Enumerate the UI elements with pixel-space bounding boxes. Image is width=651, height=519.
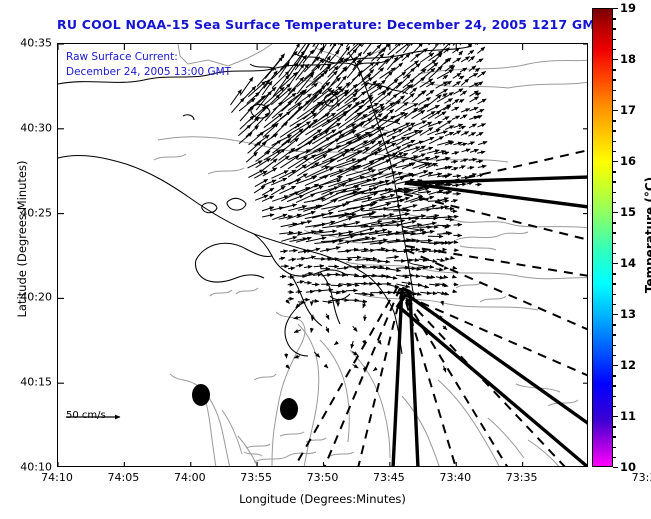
station-marker-2 — [280, 398, 298, 420]
figure-title: RU COOL NOAA-15 Sea Surface Temperature:… — [57, 17, 588, 32]
colorbar-label-15: 15 — [620, 205, 636, 219]
colorbar-minor-tick — [613, 151, 616, 152]
colorbar-minor-tick — [613, 273, 616, 274]
colorbar-label-14: 14 — [620, 256, 636, 270]
x-tick-3: 73:55 — [240, 471, 272, 484]
colorbar-minor-tick — [613, 130, 616, 131]
colorbar-minor-tick — [613, 100, 616, 101]
colorbar-minor-tick — [613, 426, 616, 427]
colorbar-minor-tick — [613, 345, 616, 346]
colorbar-minor-tick — [613, 222, 616, 223]
colorbar-minor-tick — [613, 355, 616, 356]
colorbar: 19181716151413121110 — [592, 8, 613, 467]
x-tick-2: 74:00 — [174, 471, 206, 484]
colorbar-minor-tick — [613, 39, 616, 40]
station-marker-1 — [192, 384, 210, 406]
colorbar-minor-tick — [613, 294, 616, 295]
colorbar-minor-tick — [613, 232, 616, 233]
colorbar-minor-tick — [613, 90, 616, 91]
y-tick-4: 40:15 — [20, 376, 52, 389]
colorbar-minor-tick — [613, 436, 616, 437]
colorbar-label-10: 10 — [620, 460, 636, 474]
colorbar-minor-tick — [613, 202, 616, 203]
colorbar-tick-19 — [613, 8, 618, 9]
colorbar-label-17: 17 — [620, 103, 636, 117]
colorbar-minor-tick — [613, 28, 616, 29]
colorbar-minor-tick — [613, 304, 616, 305]
colorbar-minor-tick — [613, 69, 616, 70]
current-annotation: Raw Surface Current: December 24, 2005 1… — [66, 50, 231, 80]
colorbar-minor-tick — [613, 120, 616, 121]
map-plot-area: Raw Surface Current: December 24, 2005 1… — [57, 43, 588, 467]
colorbar-minor-tick — [613, 406, 616, 407]
colorbar-minor-tick — [613, 457, 616, 458]
colorbar-gradient — [592, 8, 613, 467]
colorbar-tick-13 — [613, 314, 618, 315]
radar-coverage-sectors — [393, 177, 588, 467]
x-axis-tick-labels: 74:10 74:05 74:00 73:55 73:50 73:45 73:4… — [0, 471, 651, 487]
colorbar-minor-tick — [613, 171, 616, 172]
x-tick-7: 73:35 — [506, 471, 538, 484]
radar-bearing-lines — [294, 150, 588, 467]
x-axis-title: Longitude (Degrees:Minutes) — [57, 492, 588, 506]
colorbar-label-18: 18 — [620, 52, 636, 66]
colorbar-tick-18 — [613, 59, 618, 60]
colorbar-minor-tick — [613, 396, 616, 397]
colorbar-tick-17 — [613, 110, 618, 111]
x-tick-1: 74:05 — [108, 471, 140, 484]
colorbar-minor-tick — [613, 243, 616, 244]
x-tick-6: 73:40 — [439, 471, 471, 484]
colorbar-minor-tick — [613, 334, 616, 335]
colorbar-minor-tick — [613, 253, 616, 254]
colorbar-tick-12 — [613, 365, 618, 366]
colorbar-tick-10 — [613, 467, 618, 468]
colorbar-tick-15 — [613, 212, 618, 213]
colorbar-minor-tick — [613, 447, 616, 448]
y-tick-1: 40:30 — [20, 121, 52, 134]
y-tick-0: 40:35 — [20, 37, 52, 50]
annotation-line-2: December 24, 2005 13:00 GMT — [66, 65, 231, 80]
colorbar-minor-tick — [613, 79, 616, 80]
colorbar-minor-tick — [613, 385, 616, 386]
x-tick-4: 73:50 — [307, 471, 339, 484]
colorbar-label-12: 12 — [620, 358, 636, 372]
colorbar-minor-tick — [613, 49, 616, 50]
colorbar-tick-14 — [613, 263, 618, 264]
colorbar-minor-tick — [613, 324, 616, 325]
colorbar-title: Temperature (°C) — [643, 135, 651, 335]
sst-map-figure: RU COOL NOAA-15 Sea Surface Temperature:… — [0, 0, 651, 519]
x-tick-5: 73:45 — [373, 471, 405, 484]
colorbar-minor-tick — [613, 375, 616, 376]
colorbar-tick-11 — [613, 416, 618, 417]
y-axis-title: Latitude (Degrees:Minutes) — [15, 139, 29, 339]
annotation-line-1: Raw Surface Current: — [66, 50, 231, 65]
colorbar-tick-16 — [613, 161, 618, 162]
map-graphics — [58, 44, 588, 467]
colorbar-minor-tick — [613, 141, 616, 142]
colorbar-minor-tick — [613, 283, 616, 284]
colorbar-label-16: 16 — [620, 154, 636, 168]
colorbar-minor-tick — [613, 192, 616, 193]
colorbar-label-19: 19 — [620, 1, 636, 15]
vector-scale-key: 50 cm/s — [64, 410, 106, 422]
colorbar-label-11: 11 — [620, 409, 636, 423]
colorbar-label-13: 13 — [620, 307, 636, 321]
colorbar-minor-tick — [613, 181, 616, 182]
colorbar-minor-tick — [613, 18, 616, 19]
vector-scale-arrow-icon — [64, 410, 128, 424]
x-tick-0: 74:10 — [41, 471, 73, 484]
